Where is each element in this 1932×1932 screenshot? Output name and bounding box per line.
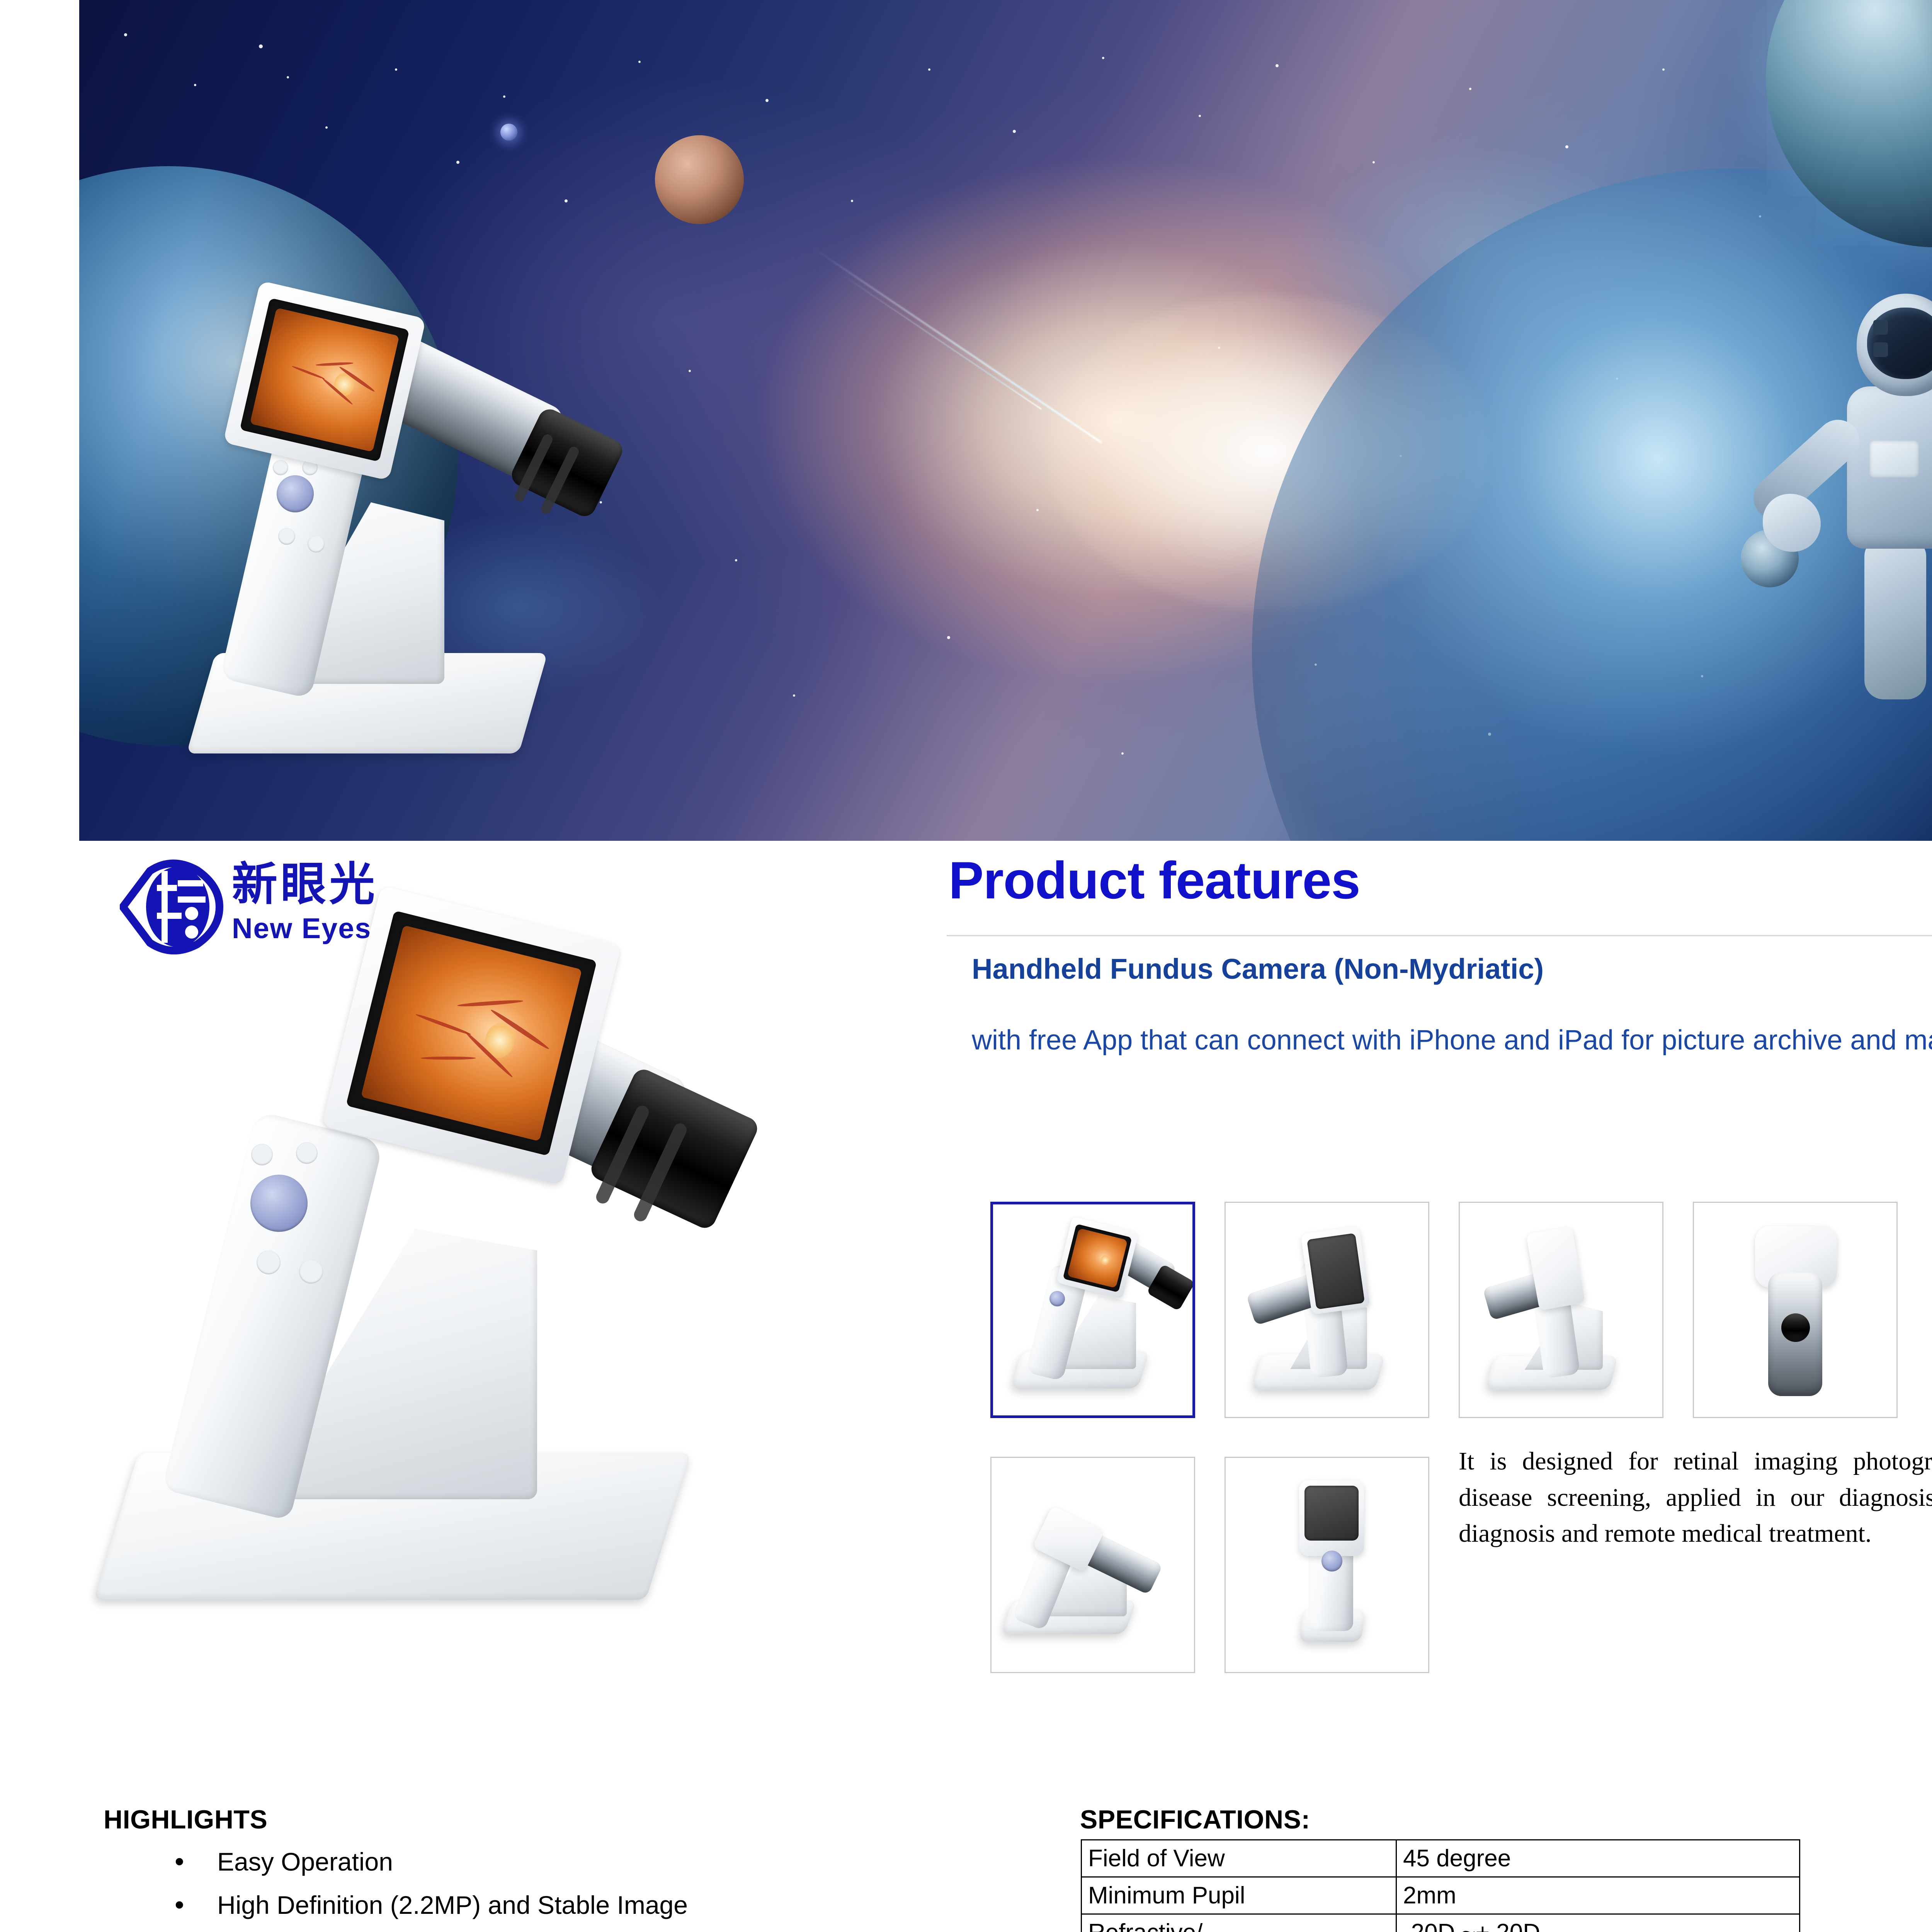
list-item: Non-Mydriatic & Wide Field of View (166, 1930, 1055, 1932)
product-lead-text: with free App that can connect with iPho… (972, 1012, 1932, 1068)
main-device-button-brightness (257, 1250, 281, 1274)
title-divider (947, 935, 1932, 936)
thumbnail-top-down-lens[interactable] (1693, 1202, 1898, 1418)
main-device-button-menu (296, 1142, 318, 1164)
product-thumbnail-gallery (990, 1202, 1932, 1681)
astronaut-helmet-sensor-bottom (1873, 342, 1888, 357)
specifications-table: Field of View45 degree Minimum Pupil2mm … (1081, 1839, 1800, 1932)
thumbnail-low-angle-stand[interactable] (990, 1457, 1195, 1673)
device-button-brightness (278, 528, 295, 545)
astronaut-leg (1864, 537, 1926, 699)
page-title: Product features (949, 850, 1360, 910)
specifications-heading: SPECIFICATIONS: (1080, 1804, 1310, 1835)
hero-planet-mid (655, 135, 744, 224)
main-device-button-light (299, 1260, 323, 1284)
list-item: High Definition (2.2MP) and Stable Image (166, 1886, 1055, 1923)
spec-value: 45 degree (1396, 1840, 1800, 1877)
main-device-ok-button (250, 1175, 308, 1232)
spec-key: Refractive/Compensation (1082, 1914, 1396, 1932)
table-row: Refractive/Compensation-20D ~+ 20D (1082, 1914, 1800, 1932)
list-item: Easy Operation (166, 1843, 1055, 1880)
spec-value: -20D ~+ 20D (1396, 1914, 1800, 1932)
astronaut-figure (1781, 270, 1932, 773)
thumbnail-front-angled-retina[interactable] (990, 1202, 1195, 1418)
highlights-heading: HIGHLIGHTS (104, 1804, 267, 1835)
thumbnail-side-angled-dark-screen[interactable] (1225, 1202, 1429, 1418)
table-row: Field of View45 degree (1082, 1840, 1800, 1877)
thumbnail-side-profile-stand[interactable] (1459, 1202, 1663, 1418)
spec-key: Minimum Pupil (1082, 1877, 1396, 1914)
spec-value: 2mm (1396, 1877, 1800, 1914)
astronaut-chest-panel (1869, 440, 1919, 478)
main-device-button-power (251, 1144, 273, 1165)
thumbnail-front-upright[interactable] (1225, 1457, 1429, 1673)
main-device-fundus-image (361, 925, 582, 1141)
highlights-list: Easy Operation High Definition (2.2MP) a… (166, 1843, 1055, 1932)
spec-key: Field of View (1082, 1840, 1396, 1877)
device-button-light (308, 536, 325, 553)
product-subtitle: Handheld Fundus Camera (Non-Mydriatic) (972, 954, 1932, 983)
hero-star-bright (500, 124, 517, 141)
hero-product-device (201, 294, 684, 788)
new-eyes-logo-chinese: 新眼光 (232, 862, 378, 907)
device-ok-button (277, 475, 314, 512)
astronaut-glove (1763, 494, 1821, 552)
astronaut-helmet-sensor-top (1873, 320, 1888, 335)
device-fundus-image (250, 308, 400, 452)
hero-banner (79, 0, 1932, 841)
gallery-description: It is designed for retinal imaging photo… (1459, 1443, 1932, 1552)
main-product-photo (116, 904, 796, 1669)
device-button-power (273, 460, 288, 475)
table-row: Minimum Pupil2mm (1082, 1877, 1800, 1914)
